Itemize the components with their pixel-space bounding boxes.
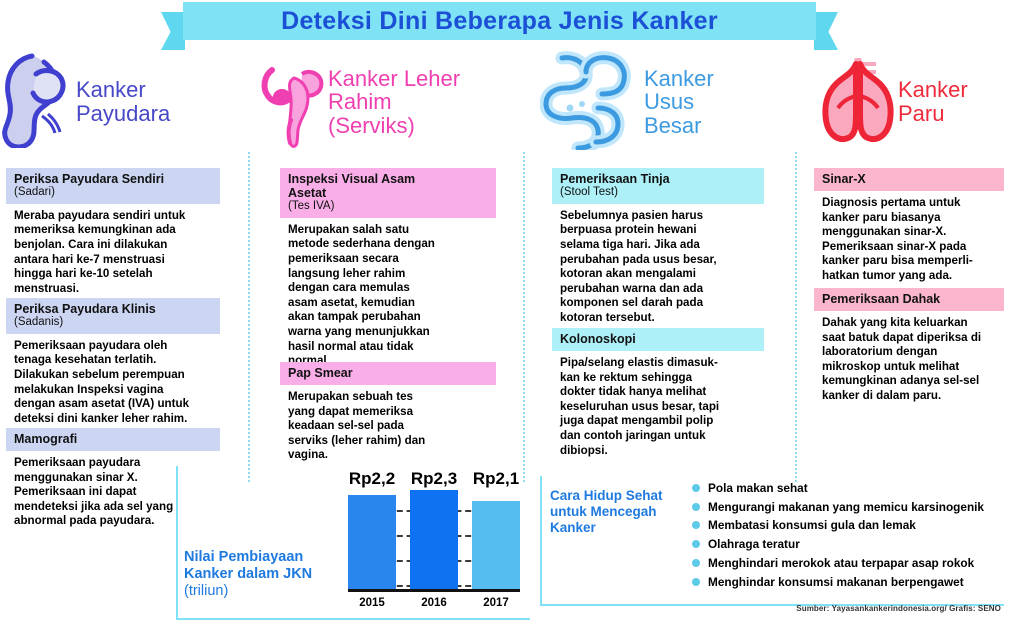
- list-item: Membatasi konsumsi gula dan lemak: [692, 518, 997, 533]
- list-item: Pola makan sehat: [692, 481, 997, 496]
- list-item: Olahraga teratur: [692, 537, 997, 552]
- list-item: Menghindar konsumsi makanan berpengawet: [692, 575, 997, 590]
- info-block-subtitle: (Tes IVA): [288, 200, 488, 213]
- list-item-label: Mengurangi makanan yang memicu karsinoge…: [708, 500, 984, 514]
- cancer-heading-usus-besar: Kanker Usus Besar: [540, 52, 790, 152]
- info-block-body: Pipa/selang elastis dimasuk- kan ke rekt…: [552, 351, 764, 458]
- banner-ribbon-left: [161, 12, 185, 50]
- list-item: Menghindari merokok atau terpapar asap r…: [692, 556, 997, 571]
- infographic-canvas: Deteksi Dini Beberapa Jenis Kanker Kanke…: [0, 0, 1009, 621]
- title-banner: Deteksi Dini Beberapa Jenis Kanker: [183, 2, 816, 42]
- source-credit: Sumber: Yayasankankerindonesia.org/ Graf…: [796, 604, 1001, 613]
- info-block-header: Pemeriksaan Dahak: [814, 288, 1004, 311]
- banner-body: Deteksi Dini Beberapa Jenis Kanker: [183, 2, 816, 40]
- bullet-dot-icon: [692, 503, 700, 511]
- info-block-subtitle: (Stool Test): [560, 186, 756, 199]
- x-tick-label: 2016: [410, 597, 458, 609]
- bullet-dot-icon: [692, 540, 700, 548]
- bullet-dot-icon: [692, 559, 700, 567]
- bar-2015: [348, 495, 396, 590]
- bar-2016: [410, 490, 458, 590]
- page-title: Deteksi Dini Beberapa Jenis Kanker: [281, 7, 718, 36]
- info-block-title: Sinar-X: [822, 172, 996, 186]
- info-block-title: Pap Smear: [288, 366, 488, 380]
- info-block-title: Kolonoskopi: [560, 332, 756, 346]
- bar-value-label: Rp2,3: [411, 469, 457, 489]
- info-block-title: Pemeriksaan Tinja: [560, 172, 756, 186]
- cancer-label-usus-besar: Kanker Usus Besar: [644, 67, 714, 138]
- bullet-dot-icon: [692, 484, 700, 492]
- info-block-header: Kolonoskopi: [552, 328, 764, 351]
- banner-ribbon-right: [814, 12, 838, 50]
- info-block-sadari: Periksa Payudara Sendiri (Sadari) Meraba…: [6, 168, 220, 296]
- chart-panel: Nilai Pembiayaan Kanker dalam JKN (trili…: [176, 466, 528, 618]
- cancer-label-serviks: Kanker Leher Rahim (Serviks): [328, 67, 460, 138]
- bar-chart: Rp2,2 Rp2,3 Rp2,1 2015 2016 2017: [348, 472, 520, 612]
- chart-x-ticks: 2015 2016 2017: [348, 594, 520, 612]
- info-block-pap-smear: Pap Smear Merupakan sebuah tes yang dapa…: [280, 362, 496, 463]
- column-divider-3: [795, 152, 797, 482]
- lifestyle-title: Cara Hidup Sehat untuk Mencegah Kanker: [550, 488, 680, 537]
- list-item: Mengurangi makanan yang memicu karsinoge…: [692, 500, 997, 515]
- cancer-heading-paru: Kanker Paru: [818, 52, 1008, 152]
- breast-organ-icon: [2, 52, 76, 153]
- bar-2017: [472, 501, 520, 590]
- chart-caption-unit: (triliun): [184, 583, 228, 599]
- info-block-header: Pap Smear: [280, 362, 496, 385]
- info-block-kolonoskopi: Kolonoskopi Pipa/selang elastis dimasuk-…: [552, 328, 764, 458]
- bullet-dot-icon: [692, 521, 700, 529]
- cancer-label-paru: Kanker Paru: [898, 78, 968, 125]
- info-block-header: Pemeriksaan Tinja (Stool Test): [552, 168, 764, 204]
- chart-caption-main: Nilai Pembiayaan Kanker dalam JKN: [184, 549, 312, 582]
- list-item-label: Menghindar konsumsi makanan berpengawet: [708, 575, 964, 589]
- info-block-title: Inspeksi Visual Asam Asetat: [288, 172, 488, 200]
- cancer-heading-payudara: Kanker Payudara: [2, 52, 232, 152]
- info-block-subtitle: (Sadari): [14, 186, 212, 199]
- info-block-title: Pemeriksaan Dahak: [822, 292, 996, 306]
- column-divider-1: [248, 152, 250, 482]
- info-block-body: Dahak yang kita keluarkan saat batuk dap…: [814, 311, 1004, 404]
- info-block-iva: Inspeksi Visual Asam Asetat (Tes IVA) Me…: [280, 168, 496, 369]
- list-item-label: Membatasi konsumsi gula dan lemak: [708, 518, 916, 532]
- column-divider-2: [523, 152, 525, 482]
- info-block-dahak: Pemeriksaan Dahak Dahak yang kita keluar…: [814, 288, 1004, 404]
- bullet-dot-icon: [692, 578, 700, 586]
- info-block-body: Merupakan sebuah tes yang dapat memeriks…: [280, 385, 496, 463]
- info-block-sinar-x: Sinar-X Diagnosis pertama untuk kanker p…: [814, 168, 1004, 284]
- bar-value-label: Rp2,2: [349, 469, 395, 489]
- info-block-sadanis: Periksa Payudara Klinis (Sadanis) Pemeri…: [6, 298, 220, 426]
- info-block-body: Meraba payudara sendiri untuk memeriksa …: [6, 204, 220, 297]
- chart-x-axis: [348, 589, 520, 592]
- bar-column-2015: Rp2,2: [348, 490, 396, 590]
- intestine-organ-icon: [540, 50, 644, 155]
- info-block-title: Periksa Payudara Klinis: [14, 302, 212, 316]
- chart-caption: Nilai Pembiayaan Kanker dalam JKN (trili…: [184, 532, 334, 600]
- list-item-label: Pola makan sehat: [708, 481, 808, 495]
- info-block-header: Periksa Payudara Klinis (Sadanis): [6, 298, 220, 334]
- bar-value-label: Rp2,1: [473, 469, 519, 489]
- info-block-title: Mamografi: [14, 432, 212, 446]
- list-item-label: Menghindari merokok atau terpapar asap r…: [708, 556, 974, 570]
- info-block-body: Merupakan salah satu metode sederhana de…: [280, 218, 496, 369]
- bar-series: Rp2,2 Rp2,3 Rp2,1: [348, 490, 520, 590]
- info-block-subtitle: (Sadanis): [14, 316, 212, 329]
- info-block-header: Periksa Payudara Sendiri (Sadari): [6, 168, 220, 204]
- info-block-body: Diagnosis pertama untuk kanker paru bias…: [814, 191, 1004, 284]
- info-block-body: Sebelumnya pasien harus berpuasa protein…: [552, 204, 764, 326]
- bar-column-2016: Rp2,3: [410, 490, 458, 590]
- info-block-header: Sinar-X: [814, 168, 1004, 191]
- info-block-header: Mamografi: [6, 428, 220, 451]
- bar-column-2017: Rp2,1: [472, 490, 520, 590]
- info-block-stool-test: Pemeriksaan Tinja (Stool Test) Sebelumny…: [552, 168, 764, 326]
- healthy-lifestyle-panel: Cara Hidup Sehat untuk Mencegah Kanker P…: [540, 476, 1002, 604]
- lung-organ-icon: [818, 52, 898, 153]
- info-block-header: Inspeksi Visual Asam Asetat (Tes IVA): [280, 168, 496, 218]
- list-item-label: Olahraga teratur: [708, 537, 800, 551]
- cancer-label-payudara: Kanker Payudara: [76, 78, 170, 125]
- uterus-organ-icon: [258, 52, 328, 153]
- lifestyle-list: Pola makan sehat Mengurangi makanan yang…: [692, 481, 997, 593]
- info-block-body: Pemeriksaan payudara oleh tenaga kesehat…: [6, 334, 220, 427]
- info-block-title: Periksa Payudara Sendiri: [14, 172, 212, 186]
- x-tick-label: 2015: [348, 597, 396, 609]
- cancer-heading-serviks: Kanker Leher Rahim (Serviks): [258, 52, 508, 152]
- x-tick-label: 2017: [472, 597, 520, 609]
